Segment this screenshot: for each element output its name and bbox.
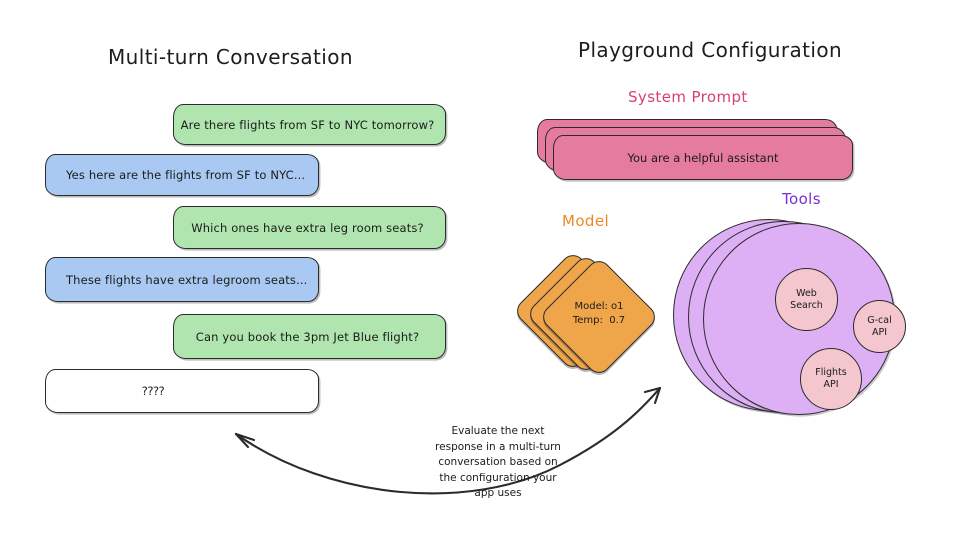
tool-item-flights-api[interactable]: Flights API: [800, 348, 862, 410]
tool-item-label: G-cal API: [867, 315, 891, 339]
left-panel-title: Multi-turn Conversation: [108, 45, 353, 69]
chat-bubble-text: Are there flights from SF to NYC tomorro…: [174, 118, 445, 132]
chat-bubble-user-2[interactable]: Which ones have extra leg room seats?: [173, 206, 446, 249]
chat-bubble-assistant-2[interactable]: These flights have extra legroom seats..…: [45, 257, 319, 302]
evaluation-caption: Evaluate the next response in a multi-tu…: [423, 424, 573, 502]
chat-bubble-text: Which ones have extra leg room seats?: [174, 221, 445, 235]
chat-bubble-user-1[interactable]: Are there flights from SF to NYC tomorro…: [173, 104, 446, 145]
system-prompt-label: System Prompt: [628, 88, 748, 106]
chat-bubble-user-3[interactable]: Can you book the 3pm Jet Blue flight?: [173, 314, 446, 359]
tool-item-label: Web Search: [790, 288, 823, 312]
system-prompt-card-front[interactable]: You are a helpful assistant: [553, 135, 853, 180]
tool-item-web-search[interactable]: Web Search: [775, 268, 838, 331]
chat-bubble-pending[interactable]: ????: [45, 369, 319, 413]
model-label: Model: [562, 212, 609, 230]
chat-bubble-text: ????: [46, 384, 318, 398]
right-panel-title: Playground Configuration: [578, 38, 842, 62]
chat-bubble-text: Can you book the 3pm Jet Blue flight?: [174, 330, 445, 344]
diagram-canvas: Multi-turn Conversation Are there flight…: [0, 0, 963, 552]
tools-label: Tools: [782, 190, 821, 208]
model-config-text: Model: o1 Temp: 0.7: [556, 300, 642, 328]
system-prompt-text: You are a helpful assistant: [627, 151, 778, 165]
chat-bubble-assistant-1[interactable]: Yes here are the flights from SF to NYC.…: [45, 154, 319, 196]
chat-bubble-text: Yes here are the flights from SF to NYC.…: [46, 168, 318, 182]
tool-item-label: Flights API: [815, 367, 846, 391]
tool-item-gcal-api[interactable]: G-cal API: [853, 300, 906, 353]
chat-bubble-text: These flights have extra legroom seats..…: [46, 273, 318, 287]
